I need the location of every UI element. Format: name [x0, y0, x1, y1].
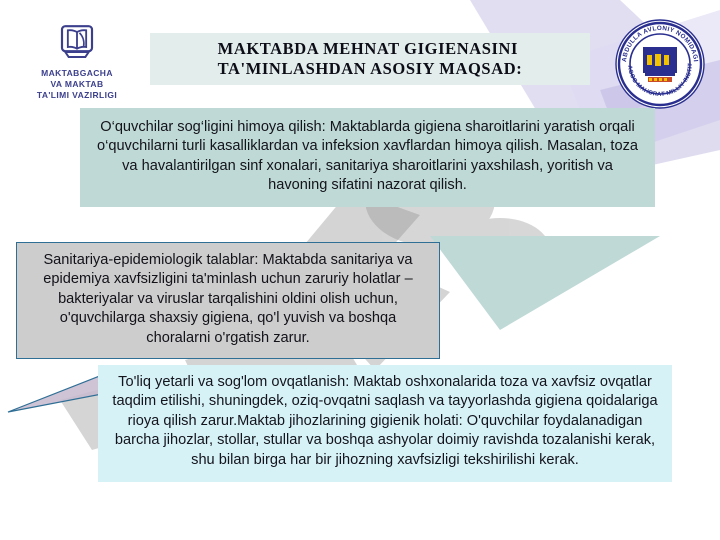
content-box-bottom: To'liq yetarli va sog'lom ovqatlanish: M…: [98, 365, 672, 482]
slide-title-box: MAKTABDA MEHNAT GIGIENASINI TA'MINLASHDA…: [150, 33, 590, 85]
presentation-slide: MAKTABGACHA VA MAKTAB TA'LIMI VAZIRLIGI …: [0, 0, 720, 540]
content-box-callout: Sanitariya-epidemiologik talablar: Makta…: [16, 242, 440, 359]
content-bottom-text: To'liq yetarli va sog'lom ovqatlanish: M…: [110, 373, 660, 470]
ministry-logo-text: MAKTABGACHA VA MAKTAB TA'LIMI VAZIRLIGI: [18, 68, 136, 101]
page-title: MAKTABDA MEHNAT GIGIENASINI TA'MINLASHDA…: [218, 39, 523, 79]
ministry-logo: MAKTABGACHA VA MAKTAB TA'LIMI VAZIRLIGI: [18, 22, 136, 101]
content-main-text: O‘quvchilar sog‘ligini himoya qilish: Ma…: [92, 118, 643, 195]
content-box-main: O‘quvchilar sog‘ligini himoya qilish: Ma…: [80, 108, 655, 207]
content-callout-text: Sanitariya-epidemiologik talablar: Makta…: [27, 251, 429, 348]
open-book-icon: [57, 22, 97, 62]
institute-emblem: ABDULLA AVLONIY NOMIDAGI PEDAGOG MAHORAT…: [614, 18, 706, 110]
main-box-callout-tail: [430, 236, 660, 330]
